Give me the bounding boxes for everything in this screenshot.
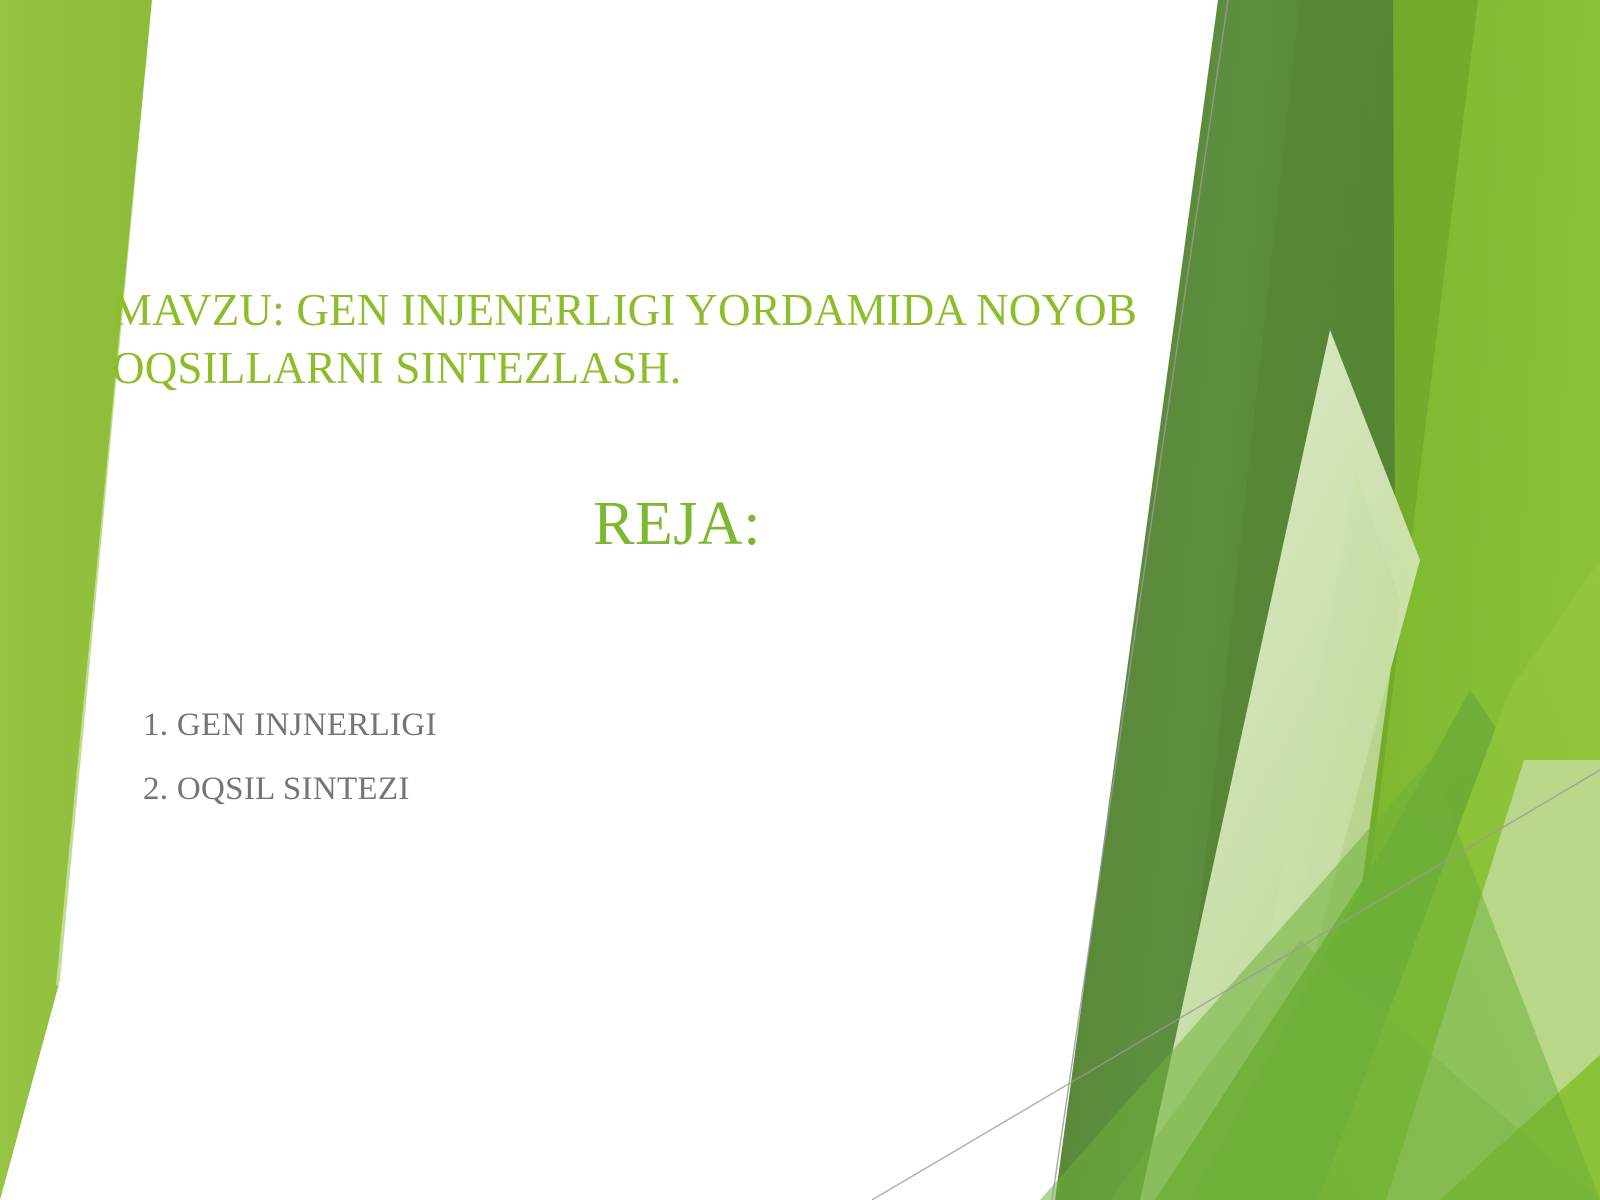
slide-content: MAVZU: GEN INJENERLIGI YORDAMIDA NOYOB O…	[0, 0, 1600, 1200]
list-item: 2. OQSIL SINTEZI	[143, 773, 1043, 806]
section-heading-placeholder[interactable]: REJA:	[112, 490, 1242, 558]
section-heading: REJA:	[112, 490, 1242, 558]
list-item: 1. GEN INJNERLIGI	[143, 709, 1043, 742]
plan-list[interactable]: 1. GEN INJNERLIGI 2. OQSIL SINTEZI	[143, 709, 1043, 837]
presentation-slide: MAVZU: GEN INJENERLIGI YORDAMIDA NOYOB O…	[0, 0, 1600, 1200]
title-placeholder[interactable]: MAVZU: GEN INJENERLIGI YORDAMIDA NOYOB O…	[112, 282, 1302, 397]
page-title: MAVZU: GEN INJENERLIGI YORDAMIDA NOYOB O…	[112, 282, 1302, 397]
